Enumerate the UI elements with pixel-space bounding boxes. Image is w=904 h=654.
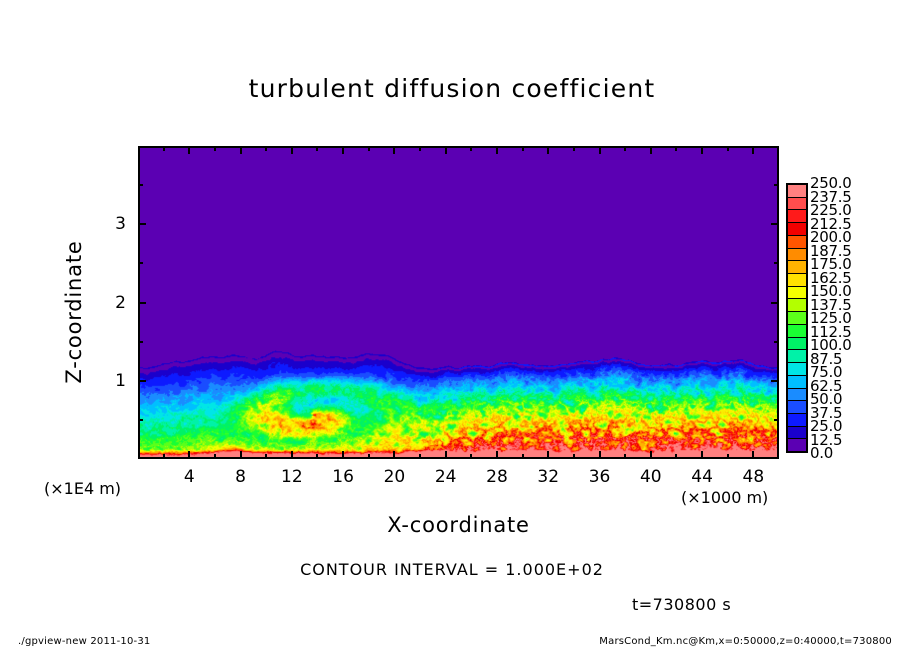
x-tick-label: 48 (726, 467, 780, 487)
x-tick-bottom (599, 451, 601, 459)
x-tick-bottom (316, 454, 318, 459)
colorbar-band (788, 198, 806, 211)
x-tick-bottom (470, 454, 472, 459)
x-axis-unit-label: (×1000 m) (681, 488, 768, 507)
x-tick-top (522, 146, 524, 151)
contour-interval-note: CONTOUR INTERVAL = 1.000E+02 (0, 560, 904, 579)
y-tick-left (138, 223, 146, 225)
x-tick-bottom (547, 451, 549, 459)
x-tick-top (291, 146, 293, 154)
y-tick-left (138, 184, 143, 186)
x-tick-bottom (265, 454, 267, 459)
x-tick-top (650, 146, 652, 154)
y-tick-right (774, 184, 779, 186)
x-tick-top (701, 146, 703, 154)
x-tick-top (496, 146, 498, 154)
colorbar-tick-labels: 250.0237.5225.0212.5200.0187.5175.0162.5… (810, 176, 900, 464)
colorbar-band (788, 401, 806, 414)
colorbar-band (788, 363, 806, 376)
x-tick-bottom (214, 454, 216, 459)
x-tick-bottom (291, 451, 293, 459)
x-tick-bottom (727, 454, 729, 459)
x-tick-bottom (188, 451, 190, 459)
x-tick-top (240, 146, 242, 154)
x-tick-label: 44 (675, 467, 729, 487)
x-tick-bottom (650, 451, 652, 459)
colorbar-band (788, 210, 806, 223)
x-tick-bottom (701, 451, 703, 459)
y-tick-right (771, 380, 779, 382)
colorbar-band (788, 350, 806, 363)
colorbar-band (788, 287, 806, 300)
y-tick-right (774, 341, 779, 343)
x-tick-label: 24 (419, 467, 473, 487)
colorbar (786, 183, 808, 453)
y-tick-label: 1 (86, 371, 126, 391)
colorbar-band (788, 312, 806, 325)
x-tick-bottom (675, 454, 677, 459)
colorbar-label: 0.0 (810, 446, 833, 461)
x-tick-top (470, 146, 472, 151)
x-tick-label: 28 (470, 467, 524, 487)
y-tick-left (138, 419, 143, 421)
time-stamp: t=730800 s (632, 595, 731, 614)
x-tick-top (419, 146, 421, 151)
x-tick-top (214, 146, 216, 151)
x-tick-top (727, 146, 729, 151)
x-tick-top (163, 146, 165, 151)
x-tick-label: 20 (367, 467, 421, 487)
x-axis-title: X-coordinate (138, 513, 779, 537)
y-tick-right (771, 302, 779, 304)
x-tick-top (342, 146, 344, 154)
footer-command: ./gpview-new 2011-10-31 (18, 636, 150, 647)
x-tick-top (368, 146, 370, 151)
x-tick-top (573, 146, 575, 151)
y-axis-title: Z-coordinate (62, 212, 86, 412)
y-axis-unit-label: (×1E4 m) (44, 479, 121, 498)
x-tick-label: 8 (214, 467, 268, 487)
x-tick-label: 16 (316, 467, 370, 487)
x-tick-bottom (368, 454, 370, 459)
colorbar-band (788, 274, 806, 287)
colorbar-band (788, 185, 806, 198)
x-tick-label: 32 (521, 467, 575, 487)
x-tick-bottom (419, 454, 421, 459)
colorbar-band (788, 325, 806, 338)
x-tick-label: 4 (162, 467, 216, 487)
x-tick-bottom (342, 451, 344, 459)
x-tick-label: 12 (265, 467, 319, 487)
x-tick-top (188, 146, 190, 154)
colorbar-band (788, 223, 806, 236)
x-tick-bottom (240, 451, 242, 459)
plot-area (138, 146, 779, 459)
x-tick-bottom (445, 451, 447, 459)
x-tick-top (265, 146, 267, 151)
figure-root: turbulent diffusion coefficient 48121620… (0, 0, 904, 654)
page-title: turbulent diffusion coefficient (0, 74, 904, 103)
x-tick-top (675, 146, 677, 151)
footer-source: MarsCond_Km.nc@Km,x=0:50000,z=0:40000,t=… (599, 636, 892, 647)
y-tick-label: 2 (86, 293, 126, 313)
y-tick-label: 3 (86, 214, 126, 234)
x-tick-bottom (624, 454, 626, 459)
x-tick-bottom (163, 454, 165, 459)
x-tick-bottom (496, 451, 498, 459)
colorbar-band (788, 236, 806, 249)
y-tick-left (138, 302, 146, 304)
x-tick-top (547, 146, 549, 154)
x-tick-top (599, 146, 601, 154)
y-tick-left (138, 341, 143, 343)
y-tick-right (774, 262, 779, 264)
colorbar-band (788, 249, 806, 262)
colorbar-band (788, 414, 806, 427)
colorbar-band (788, 376, 806, 389)
x-tick-top (752, 146, 754, 154)
y-tick-right (774, 419, 779, 421)
x-tick-top (445, 146, 447, 154)
x-tick-bottom (573, 454, 575, 459)
colorbar-band (788, 299, 806, 312)
y-tick-left (138, 380, 146, 382)
y-tick-left (138, 262, 143, 264)
colorbar-band (788, 338, 806, 351)
x-tick-bottom (752, 451, 754, 459)
x-tick-label: 36 (573, 467, 627, 487)
x-tick-top (316, 146, 318, 151)
x-tick-top (624, 146, 626, 151)
colorbar-band (788, 389, 806, 402)
colorbar-band (788, 427, 806, 440)
x-tick-top (393, 146, 395, 154)
y-tick-right (771, 223, 779, 225)
colorbar-band (788, 261, 806, 274)
heatmap-field (140, 148, 777, 457)
x-tick-label: 40 (624, 467, 678, 487)
x-tick-bottom (393, 451, 395, 459)
x-tick-bottom (522, 454, 524, 459)
colorbar-band (788, 439, 806, 451)
